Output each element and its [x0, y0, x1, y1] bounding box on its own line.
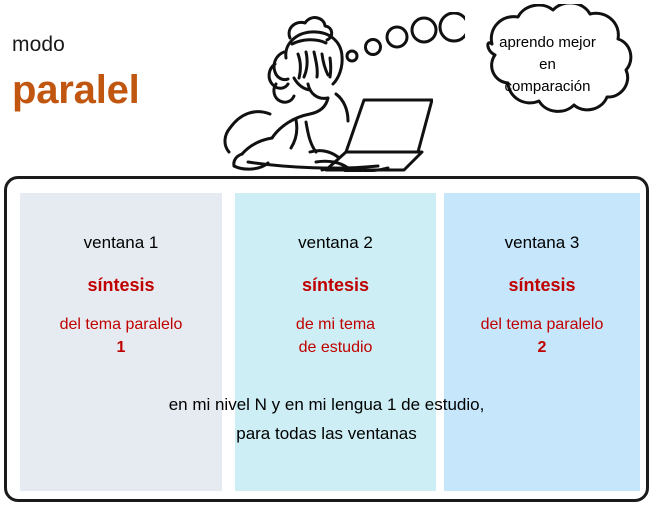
- detail-line-3a: del tema paralelo: [481, 316, 604, 333]
- detail-line-2b: de estudio: [299, 339, 373, 356]
- detail-line-1a: del tema paralelo: [60, 316, 183, 333]
- thought-bubble-text: aprendo mejor en comparación: [465, 32, 630, 97]
- window-label-3: ventana 3: [444, 233, 640, 253]
- mode-label: modo: [12, 34, 65, 55]
- detail-text-1: del tema paralelo 1: [20, 313, 222, 359]
- bubble-line-3: comparación: [465, 76, 630, 98]
- window-label-2: ventana 2: [235, 233, 436, 253]
- windows-panel-box: ventana 1 síntesis del tema paralelo 1 v…: [4, 176, 649, 502]
- window-label-1: ventana 1: [20, 233, 222, 253]
- synthesis-label-1: síntesis: [20, 275, 222, 296]
- detail-line-1b: 1: [117, 339, 126, 356]
- window-column-3: ventana 3 síntesis del tema paralelo 2: [444, 193, 640, 491]
- bubble-line-1: aprendo mejor: [465, 32, 630, 54]
- synthesis-label-2: síntesis: [235, 275, 436, 296]
- detail-text-2: de mi tema de estudio: [235, 313, 436, 359]
- window-column-2: ventana 2 síntesis de mi tema de estudio: [235, 193, 436, 491]
- header-area: modo paralel: [0, 0, 657, 176]
- mode-title: paralel: [12, 70, 140, 110]
- synthesis-label-3: síntesis: [444, 275, 640, 296]
- bubble-line-2: en: [465, 54, 630, 76]
- detail-line-2a: de mi tema: [296, 316, 375, 333]
- detail-line-3b: 2: [538, 339, 547, 356]
- window-column-1: ventana 1 síntesis del tema paralelo 1: [20, 193, 222, 491]
- detail-text-3: del tema paralelo 2: [444, 313, 640, 359]
